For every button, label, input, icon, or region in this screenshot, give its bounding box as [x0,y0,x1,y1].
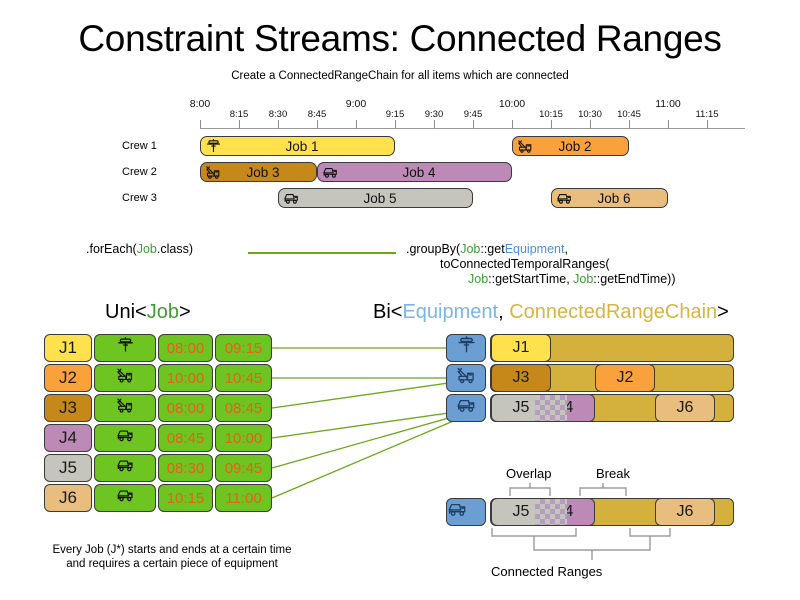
job-start-cell: 10:15 [158,484,213,512]
footer-caption: Every Job (J*) starts and ends at a cert… [12,543,332,571]
timeline-tick-label: 9:00 [346,98,366,110]
foreach-type: Job [137,242,157,256]
bi-chain-table: J1J3J2J5J4J6 [446,334,734,426]
gantt-bar-label: Job 6 [573,191,667,206]
timeline-tick [551,120,552,129]
range-segment[interactable]: J1 [491,334,551,362]
bi-suffix: > [717,301,729,323]
timeline-tick [512,120,513,129]
table-row[interactable]: J108:0009:15 [44,334,272,362]
groupby-mid: ::get [480,242,504,256]
page-title: Constraint Streams: Connected Ranges [0,18,800,60]
table-row[interactable]: J210:0010:45 [44,364,272,392]
job-id-cell: J5 [44,454,92,482]
groupby-prefix: .groupBy( [406,242,460,256]
gantt-bar[interactable]: Job 5 [278,188,473,208]
groupby-type-start: Job [468,272,488,286]
crane-truck-icon-box[interactable] [446,364,486,392]
timeline-tick-label: 10:00 [499,98,525,110]
uni-job-table: J108:0009:15J210:0010:45J308:0008:45J408… [44,334,272,516]
timeline-tick [278,120,279,129]
job-id-cell: J3 [44,394,92,422]
crew-row-label: Crew 3 [122,192,157,204]
code-annotation: .forEach(Job.class) .groupBy(Job::getEqu… [0,236,800,296]
bi-equipment: Equipment [402,301,498,323]
job-id-cell: J4 [44,424,92,452]
job-end-cell: 08:45 [215,394,272,422]
overlap-region [535,394,567,422]
job-end-cell: 09:15 [215,334,272,362]
timeline-tick [395,120,396,129]
groupby-line-3: Job::getStartTime, Job::getEndTime)) [406,272,676,287]
timeline-tick-label: 9:30 [425,109,444,120]
timeline-tick [434,120,435,129]
groupby-comma: , [564,242,567,256]
job-equipment-cell [94,454,156,482]
job-equipment-cell [94,424,156,452]
connected-range-chain: J1 [490,334,734,362]
job-start-cell: 08:30 [158,454,213,482]
gantt-bar-label: Job 1 [222,139,394,154]
table-row[interactable]: J308:0008:45 [44,394,272,422]
dump-truck-icon-box[interactable] [446,394,486,422]
groupby-line-2: toConnectedTemporalRanges( [406,257,676,272]
pile-driver-icon [456,335,477,361]
crew-row-label: Crew 2 [122,166,157,178]
footer-line-2: and requires a certain piece of equipmen… [12,557,332,571]
timeline-tick [473,120,474,129]
timeline-tick-label: 11:15 [695,109,718,120]
gantt-bar[interactable]: Job 1 [200,136,395,156]
gantt-bar-label: Job 3 [222,165,316,180]
timeline-tick-label: 10:45 [617,109,641,120]
job-start-cell: 08:00 [158,394,213,422]
range-segment[interactable]: J6 [655,394,715,422]
groupby-type: Job [460,242,480,256]
timeline-tick [200,120,201,129]
groupby-start-method: ::getStartTime, [488,272,573,286]
gantt-bar[interactable]: Job 2 [512,136,629,156]
job-equipment-cell [94,394,156,422]
overlap-region [535,498,567,526]
gantt-bar[interactable]: Job 6 [551,188,668,208]
dump-truck-icon [116,426,135,450]
groupby-type-end: Job [573,272,593,286]
gantt-bar[interactable]: Job 3 [200,162,317,182]
gantt-bar-label: Job 5 [300,191,472,206]
range-segment-label: J2 [617,369,634,387]
pile-driver-icon [116,336,135,360]
bi-chain-row[interactable]: J3J2 [446,364,734,392]
page-subtitle: Create a ConnectedRangeChain for all ite… [0,70,800,82]
dump-truck-icon [322,164,339,181]
range-segment-label: J1 [513,339,530,357]
dump-truck-icon [116,486,135,510]
uni-suffix: > [179,301,191,323]
job-equipment-cell [94,334,156,362]
dump-truck-icon [283,190,300,207]
flow-arrow [248,252,396,254]
job-equipment-cell [94,364,156,392]
uni-header: Uni<Job> [105,301,191,324]
timeline-tick-label: 10:15 [539,109,563,120]
timeline-tick-label: 8:45 [308,109,327,120]
gantt-chart: 8:008:158:308:459:009:159:309:4510:0010:… [0,96,800,222]
timeline-tick-label: 9:45 [464,109,483,120]
timeline-tick-label: 10:30 [578,109,602,120]
pile-driver-icon [205,138,222,155]
detail-braces [446,466,746,586]
range-segment-label: J6 [677,399,694,417]
timeline-tick [629,120,630,129]
timeline-tick [317,120,318,129]
timeline-tick-label: 8:15 [230,109,249,120]
crane-truck-icon [517,138,534,155]
timeline-tick [707,120,708,129]
job-equipment-cell [94,484,156,512]
pile-driver-icon-box[interactable] [446,334,486,362]
gantt-bar-label: Job 4 [339,165,511,180]
dump-truck-icon [456,395,477,421]
uni-type: Job [147,301,179,323]
job-start-cell: 08:45 [158,424,213,452]
range-segment[interactable]: J3 [491,364,551,392]
bi-comma: , [498,301,509,323]
table-row[interactable]: J610:1511:00 [44,484,272,512]
bi-header: Bi<Equipment, ConnectedRangeChain> [373,301,729,324]
connected-range-chain: J3J2 [490,364,734,392]
groupby-line-1: .groupBy(Job::getEquipment, [406,242,676,257]
range-segment-label: J5 [513,399,530,417]
crane-truck-icon [116,366,135,390]
timeline-tick [356,120,357,129]
job-id-cell: J2 [44,364,92,392]
range-segment-label: J3 [513,369,530,387]
crane-truck-icon [205,164,222,181]
bi-prefix: Bi< [373,301,402,323]
timeline-tick-label: 9:15 [386,109,405,120]
dump-truck-icon [556,190,573,207]
crew-row-label: Crew 1 [122,140,157,152]
timeline-tick-label: 8:00 [190,98,210,110]
bi-chain-row[interactable]: J1 [446,334,734,362]
footer-line-1: Every Job (J*) starts and ends at a cert… [12,543,332,557]
crane-truck-icon [116,396,135,420]
job-end-cell: 09:45 [215,454,272,482]
range-segment[interactable]: J2 [595,364,655,392]
job-start-cell: 08:00 [158,334,213,362]
foreach-expression: .forEach(Job.class) [86,242,193,256]
groupby-equipment: Equipment [505,242,565,256]
job-id-cell: J1 [44,334,92,362]
groupby-end-method: ::getEndTime)) [593,272,675,286]
job-end-cell: 10:45 [215,364,272,392]
job-end-cell: 10:00 [215,424,272,452]
connected-ranges-detail: J5J4J6 Overlap Break Connected Ranges [446,466,746,586]
groupby-expression: .groupBy(Job::getEquipment, toConnectedT… [406,242,676,287]
connected-range-chain: J5J4J6 [490,394,734,422]
table-row[interactable]: J508:3009:45 [44,454,272,482]
gantt-bar[interactable]: Job 4 [317,162,512,182]
timeline-tick-label: 11:00 [655,98,681,110]
crane-truck-icon [456,365,477,391]
bi-chain-row[interactable]: J5J4J6 [446,394,734,422]
foreach-suffix: .class) [157,242,193,256]
timeline-tick [590,120,591,129]
job-id-cell: J6 [44,484,92,512]
timeline-tick [668,120,669,129]
timeline-tick [239,120,240,129]
job-start-cell: 10:00 [158,364,213,392]
gantt-bar-label: Job 2 [534,139,628,154]
bi-chain: ConnectedRangeChain [509,301,717,323]
timeline-tick-label: 8:30 [269,109,288,120]
uni-prefix: Uni< [105,301,147,323]
dump-truck-icon [116,456,135,480]
foreach-prefix: .forEach( [86,242,137,256]
table-row[interactable]: J408:4510:00 [44,424,272,452]
job-end-cell: 11:00 [215,484,272,512]
